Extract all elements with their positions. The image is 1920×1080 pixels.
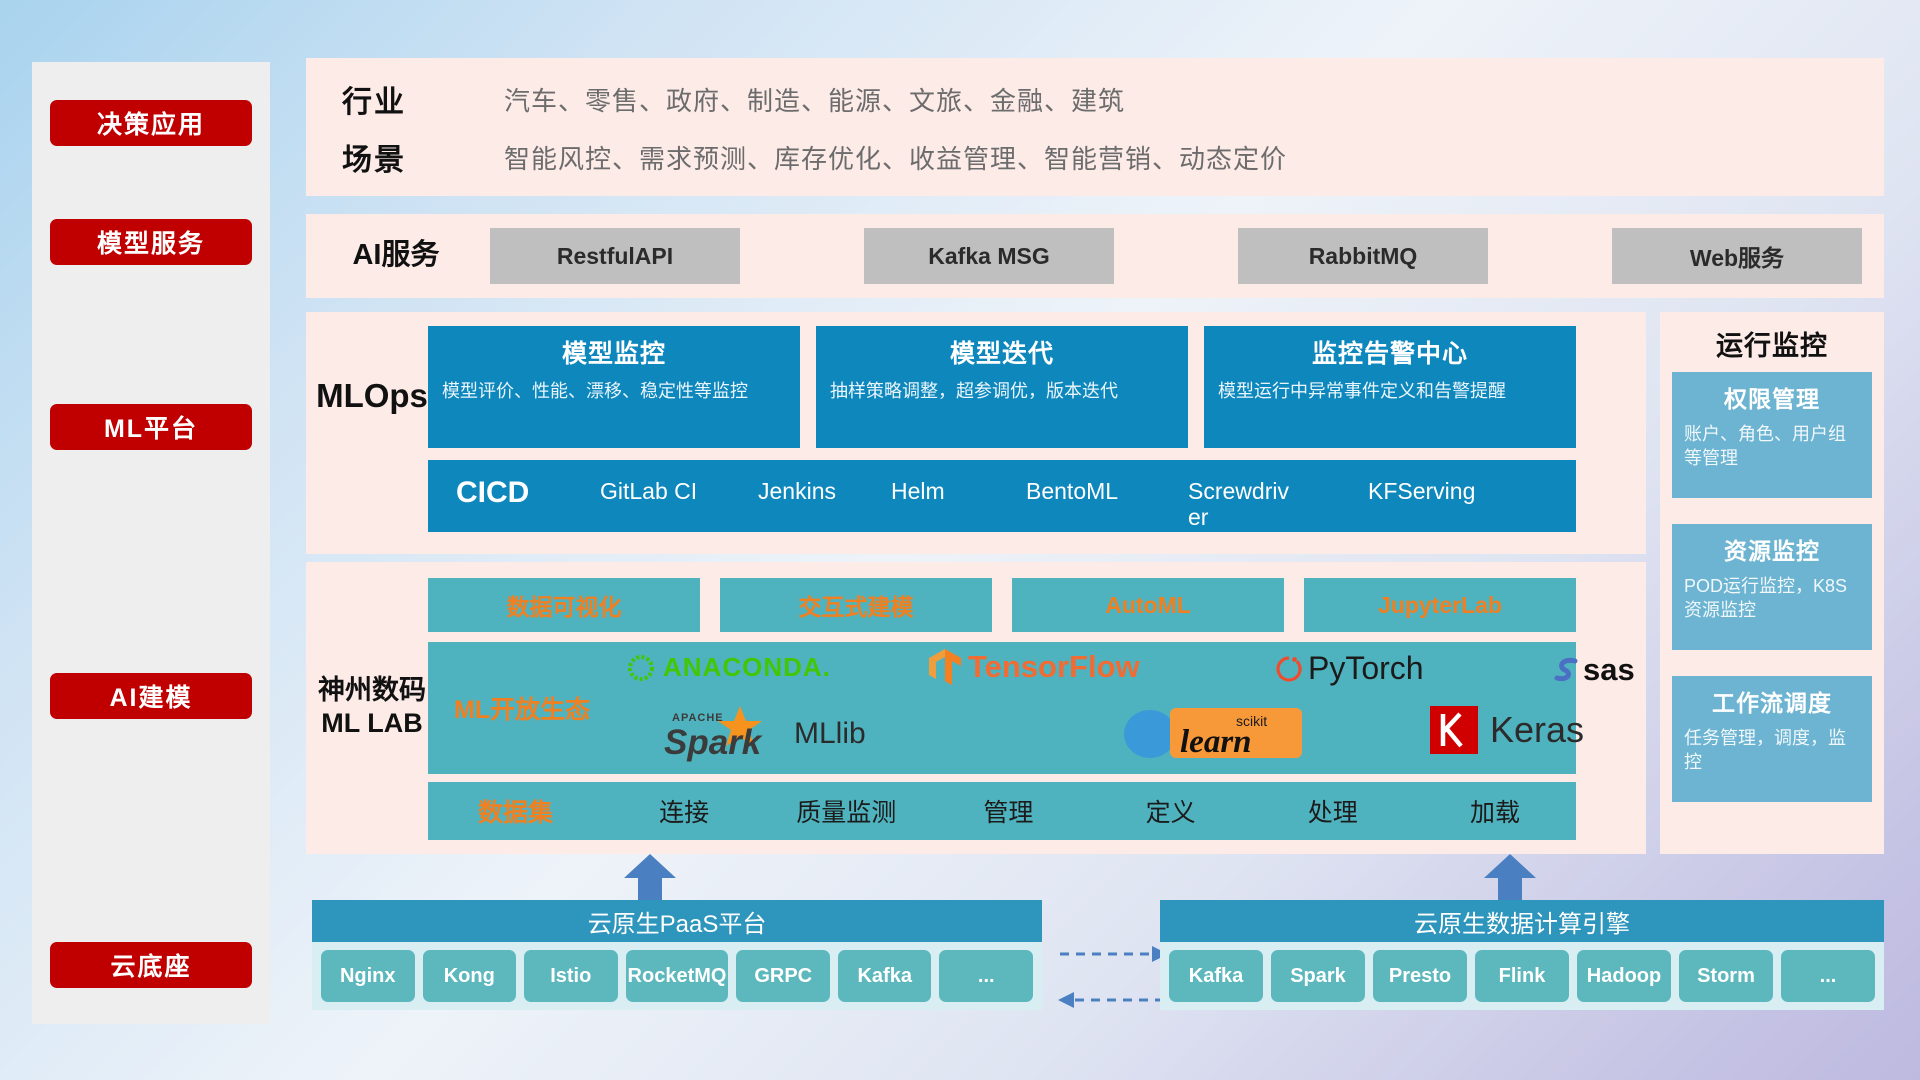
mon-card-title: 资源监控 xyxy=(1684,532,1860,566)
anaconda-logo-text: ANACONDA. xyxy=(663,652,831,683)
arrow-up-paas xyxy=(620,854,680,900)
rail-chip-ml-platform[interactable]: ML平台 xyxy=(50,404,252,450)
mon-card-desc: POD运行监控，K8S资源监控 xyxy=(1684,574,1860,623)
rail-chip-ai-modeling[interactable]: AI建模 xyxy=(50,673,252,719)
tensorflow-logo-text: TensorFlow xyxy=(968,649,1140,685)
mon-card-title: 工作流调度 xyxy=(1684,684,1860,718)
cloud-box-flink[interactable]: Flink xyxy=(1475,950,1569,1002)
keras-icon xyxy=(1428,704,1480,756)
ml-open-ecosystem: ML开放生态 ANACONDA. TensorFlow xyxy=(428,642,1576,774)
sas-logo-text: sas xyxy=(1583,652,1635,688)
industry-value: 汽车、零售、政府、制造、能源、文旅、金融、建筑 xyxy=(504,81,1125,118)
ai-service-band: AI服务 RestfulAPI Kafka MSG RabbitMQ Web服务 xyxy=(306,214,1884,298)
mllib-logo-text: MLlib xyxy=(794,717,866,751)
dataset-load[interactable]: 加载 xyxy=(1414,793,1576,829)
cloud-box-hadoop[interactable]: Hadoop xyxy=(1577,950,1671,1002)
mlops-card-alert-center[interactable]: 监控告警中心 模型运行中异常事件定义和告警提醒 xyxy=(1204,326,1576,448)
anaconda-icon xyxy=(626,653,656,683)
keras-logo-text: Keras xyxy=(1490,709,1584,751)
mlops-band: MLOps 模型监控 模型评价、性能、漂移、稳定性等监控 模型迭代 抽样策略调整… xyxy=(306,312,1646,554)
tab-jupyterlab[interactable]: JupyterLab xyxy=(1304,578,1576,632)
pytorch-icon xyxy=(1276,653,1302,685)
dataset-define[interactable]: 定义 xyxy=(1090,793,1252,829)
cicd-item-bentoml[interactable]: BentoML xyxy=(1026,478,1134,504)
tab-automl[interactable]: AutoML xyxy=(1012,578,1284,632)
mlops-label: MLOps xyxy=(316,366,428,426)
svg-text:learn: learn xyxy=(1180,724,1252,760)
ai-service-label: AI服务 xyxy=(330,230,462,282)
scikit-learn-icon: scikit learn xyxy=(1118,704,1308,762)
cicd-title: CICD xyxy=(456,476,529,510)
ml-open-ecosystem-label: ML开放生态 xyxy=(454,690,590,726)
cloud-data-engine-tray: Kafka Spark Presto Flink Hadoop Storm ..… xyxy=(1160,942,1884,1010)
cloud-box-kafka[interactable]: Kafka xyxy=(1169,950,1263,1002)
cicd-item-kfserving[interactable]: KFServing xyxy=(1368,478,1476,504)
cloud-data-engine-title: 云原生数据计算引擎 xyxy=(1160,900,1884,942)
dataset-connect[interactable]: 连接 xyxy=(603,793,765,829)
industry-row: 行业 汽车、零售、政府、制造、能源、文旅、金融、建筑 xyxy=(342,72,1125,126)
mon-card-title: 权限管理 xyxy=(1684,380,1860,414)
mon-card-desc: 任务管理，调度，监控 xyxy=(1684,726,1860,775)
spark-mllib-logo: APACHE Spark MLlib xyxy=(624,704,866,764)
mon-card-desc: 账户、角色、用户组等管理 xyxy=(1684,422,1860,471)
cloud-box-presto[interactable]: Presto xyxy=(1373,950,1467,1002)
svg-text:Spark: Spark xyxy=(664,723,763,762)
tab-data-visualization[interactable]: 数据可视化 xyxy=(428,578,700,632)
spark-icon: APACHE Spark xyxy=(624,704,792,764)
sas-icon xyxy=(1552,655,1582,685)
keras-logo: Keras xyxy=(1428,704,1584,756)
mon-card-resource[interactable]: 资源监控 POD运行监控，K8S资源监控 xyxy=(1672,524,1872,650)
cloud-link-arrows xyxy=(1056,940,1168,1020)
cloud-box-istio[interactable]: Istio xyxy=(524,950,618,1002)
mlops-card-desc: 抽样策略调整，超参调优，版本迭代 xyxy=(830,379,1174,404)
cloud-paas-tray: Nginx Kong Istio RocketMQ GRPC Kafka ... xyxy=(312,942,1042,1010)
cloud-box-storm[interactable]: Storm xyxy=(1679,950,1773,1002)
svc-chip-restfulapi[interactable]: RestfulAPI xyxy=(490,228,740,284)
ml-lab-line1: 神州数码 xyxy=(318,674,426,707)
dataset-manage[interactable]: 管理 xyxy=(927,793,1089,829)
ml-lab-label: 神州数码 ML LAB xyxy=(312,668,432,746)
dataset-label: 数据集 xyxy=(428,793,603,829)
rail-chip-decision[interactable]: 决策应用 xyxy=(50,100,252,146)
cloud-box-nginx[interactable]: Nginx xyxy=(321,950,415,1002)
rail-chip-model-svc[interactable]: 模型服务 xyxy=(50,219,252,265)
mon-card-permission[interactable]: 权限管理 账户、角色、用户组等管理 xyxy=(1672,372,1872,498)
sas-logo: sas xyxy=(1552,652,1635,688)
svc-chip-rabbitmq[interactable]: RabbitMQ xyxy=(1238,228,1488,284)
tab-interactive-modeling[interactable]: 交互式建模 xyxy=(720,578,992,632)
cicd-item-gitlab-ci[interactable]: GitLab CI xyxy=(600,478,708,504)
mlops-card-model-monitor[interactable]: 模型监控 模型评价、性能、漂移、稳定性等监控 xyxy=(428,326,800,448)
mlops-card-desc: 模型评价、性能、漂移、稳定性等监控 xyxy=(442,379,786,404)
cloud-box-spark[interactable]: Spark xyxy=(1271,950,1365,1002)
dataset-row: 数据集 连接 质量监测 管理 定义 处理 加载 xyxy=(428,782,1576,840)
scenario-value: 智能风控、需求预测、库存优化、收益管理、智能营销、动态定价 xyxy=(504,139,1287,176)
rail-chip-cloud-base[interactable]: 云底座 xyxy=(50,942,252,988)
architecture-diagram: 决策应用 模型服务 ML平台 AI建模 云底座 行业 汽车、零售、政府、制造、能… xyxy=(0,0,1920,1080)
cloud-data-engine-group: 云原生数据计算引擎 Kafka Spark Presto Flink Hadoo… xyxy=(1160,900,1884,1012)
cicd-bar: CICD GitLab CI Jenkins Helm BentoML Scre… xyxy=(428,460,1576,532)
cloud-box-more[interactable]: ... xyxy=(939,950,1033,1002)
mlops-card-title: 模型迭代 xyxy=(830,334,1174,370)
runtime-monitoring-band: 运行监控 权限管理 账户、角色、用户组等管理 资源监控 POD运行监控，K8S资… xyxy=(1660,312,1884,854)
cicd-item-screwdriver[interactable]: Screwdriver xyxy=(1188,478,1296,531)
scikit-learn-logo: scikit learn xyxy=(1118,704,1308,762)
dataset-process[interactable]: 处理 xyxy=(1252,793,1414,829)
pytorch-logo-text: PyTorch xyxy=(1308,650,1424,687)
mlops-card-title: 监控告警中心 xyxy=(1218,334,1562,370)
ai-modeling-band: 神州数码 ML LAB 数据可视化 交互式建模 AutoML JupyterLa… xyxy=(306,562,1646,854)
industry-scenario-band: 行业 汽车、零售、政府、制造、能源、文旅、金融、建筑 场景 智能风控、需求预测、… xyxy=(306,58,1884,196)
cloud-paas-title: 云原生PaaS平台 xyxy=(312,900,1042,942)
mlops-card-title: 模型监控 xyxy=(442,334,786,370)
cicd-item-helm[interactable]: Helm xyxy=(891,478,999,504)
scenario-row: 场景 智能风控、需求预测、库存优化、收益管理、智能营销、动态定价 xyxy=(342,130,1287,184)
cloud-box-more[interactable]: ... xyxy=(1781,950,1875,1002)
dataset-quality[interactable]: 质量监测 xyxy=(765,793,927,829)
cloud-box-kafka[interactable]: Kafka xyxy=(838,950,932,1002)
layer-rail: 决策应用 模型服务 ML平台 AI建模 云底座 xyxy=(32,62,270,1024)
svc-chip-web-service[interactable]: Web服务 xyxy=(1612,228,1862,284)
industry-label: 行业 xyxy=(342,77,460,121)
tensorflow-icon xyxy=(928,648,962,686)
mlops-card-desc: 模型运行中异常事件定义和告警提醒 xyxy=(1218,379,1562,404)
cloud-box-rocketmq[interactable]: RocketMQ xyxy=(626,950,729,1002)
mon-card-workflow[interactable]: 工作流调度 任务管理，调度，监控 xyxy=(1672,676,1872,802)
cloud-box-grpc[interactable]: GRPC xyxy=(736,950,830,1002)
cloud-paas-group: 云原生PaaS平台 Nginx Kong Istio RocketMQ GRPC… xyxy=(312,900,1042,1012)
tensorflow-logo: TensorFlow xyxy=(928,648,1140,686)
cicd-item-jenkins[interactable]: Jenkins xyxy=(758,478,866,504)
pytorch-logo: PyTorch xyxy=(1276,650,1424,687)
mlops-card-model-iteration[interactable]: 模型迭代 抽样策略调整，超参调优，版本迭代 xyxy=(816,326,1188,448)
ml-lab-line2: ML LAB xyxy=(321,707,423,740)
scenario-label: 场景 xyxy=(342,135,460,179)
runtime-monitoring-title: 运行监控 xyxy=(1660,324,1884,363)
anaconda-logo: ANACONDA. xyxy=(626,652,831,683)
svc-chip-kafka-msg[interactable]: Kafka MSG xyxy=(864,228,1114,284)
cloud-box-kong[interactable]: Kong xyxy=(423,950,517,1002)
arrow-up-data-engine xyxy=(1480,854,1540,900)
